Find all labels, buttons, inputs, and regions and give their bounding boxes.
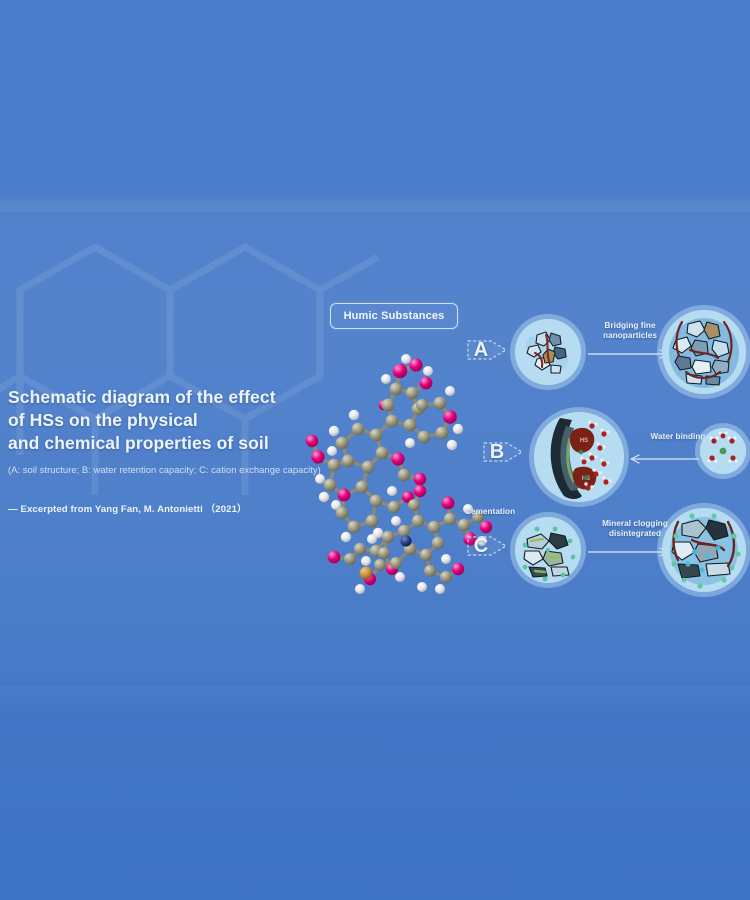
text-block: Schematic diagram of the effect of HSs o… (8, 386, 338, 515)
caption-a-line1: Bridging fine (588, 321, 672, 331)
headline-subtitle: (A: soil structure; B: water retention c… (8, 464, 338, 475)
chevron-a-icon: A (466, 330, 508, 370)
chevron-b-icon: B (482, 432, 524, 472)
chevron-a-letter: A (466, 330, 496, 370)
arrow-b-connector (627, 452, 699, 466)
row-a: A (462, 305, 750, 405)
caption-a-line2: nanoparticles (588, 331, 672, 341)
chevron-c-letter: C (466, 526, 496, 566)
diagram-canvas: Schematic diagram of the effect of HSs o… (0, 0, 750, 900)
row-b: B HS HS (462, 408, 750, 513)
row-c: Cementation C (462, 505, 750, 605)
circle-c-after (662, 508, 746, 592)
circle-a-after (662, 310, 746, 394)
chevron-c-icon: C (466, 526, 508, 566)
headline-line-2: of HSs on the physical (8, 409, 338, 432)
circle-c-before (515, 517, 581, 583)
chevron-b-letter: B (482, 432, 512, 472)
humic-substances-text: Humic Substances (344, 310, 445, 322)
circle-b-water-cluster (700, 428, 746, 474)
headline-line-1: Schematic diagram of the effect (8, 386, 338, 409)
headline-line-3: and chemical properties of soil (8, 432, 338, 455)
page-title: Schematic diagram of the effect of HSs o… (8, 386, 338, 455)
caption-a: Bridging fine nanoparticles (588, 321, 672, 341)
circle-b-main: HS HS (534, 412, 624, 502)
source-credit: — Excerpted from Yang Fan, M. Antonietti… (8, 501, 338, 515)
cementation-label: Cementation (465, 507, 527, 517)
circle-a-before (515, 319, 581, 385)
panel-fade-bottom (0, 686, 750, 712)
humic-substances-label: Humic Substances (330, 303, 458, 329)
svg-text:HS: HS (580, 438, 588, 444)
cementation-text: Cementation (465, 507, 515, 516)
